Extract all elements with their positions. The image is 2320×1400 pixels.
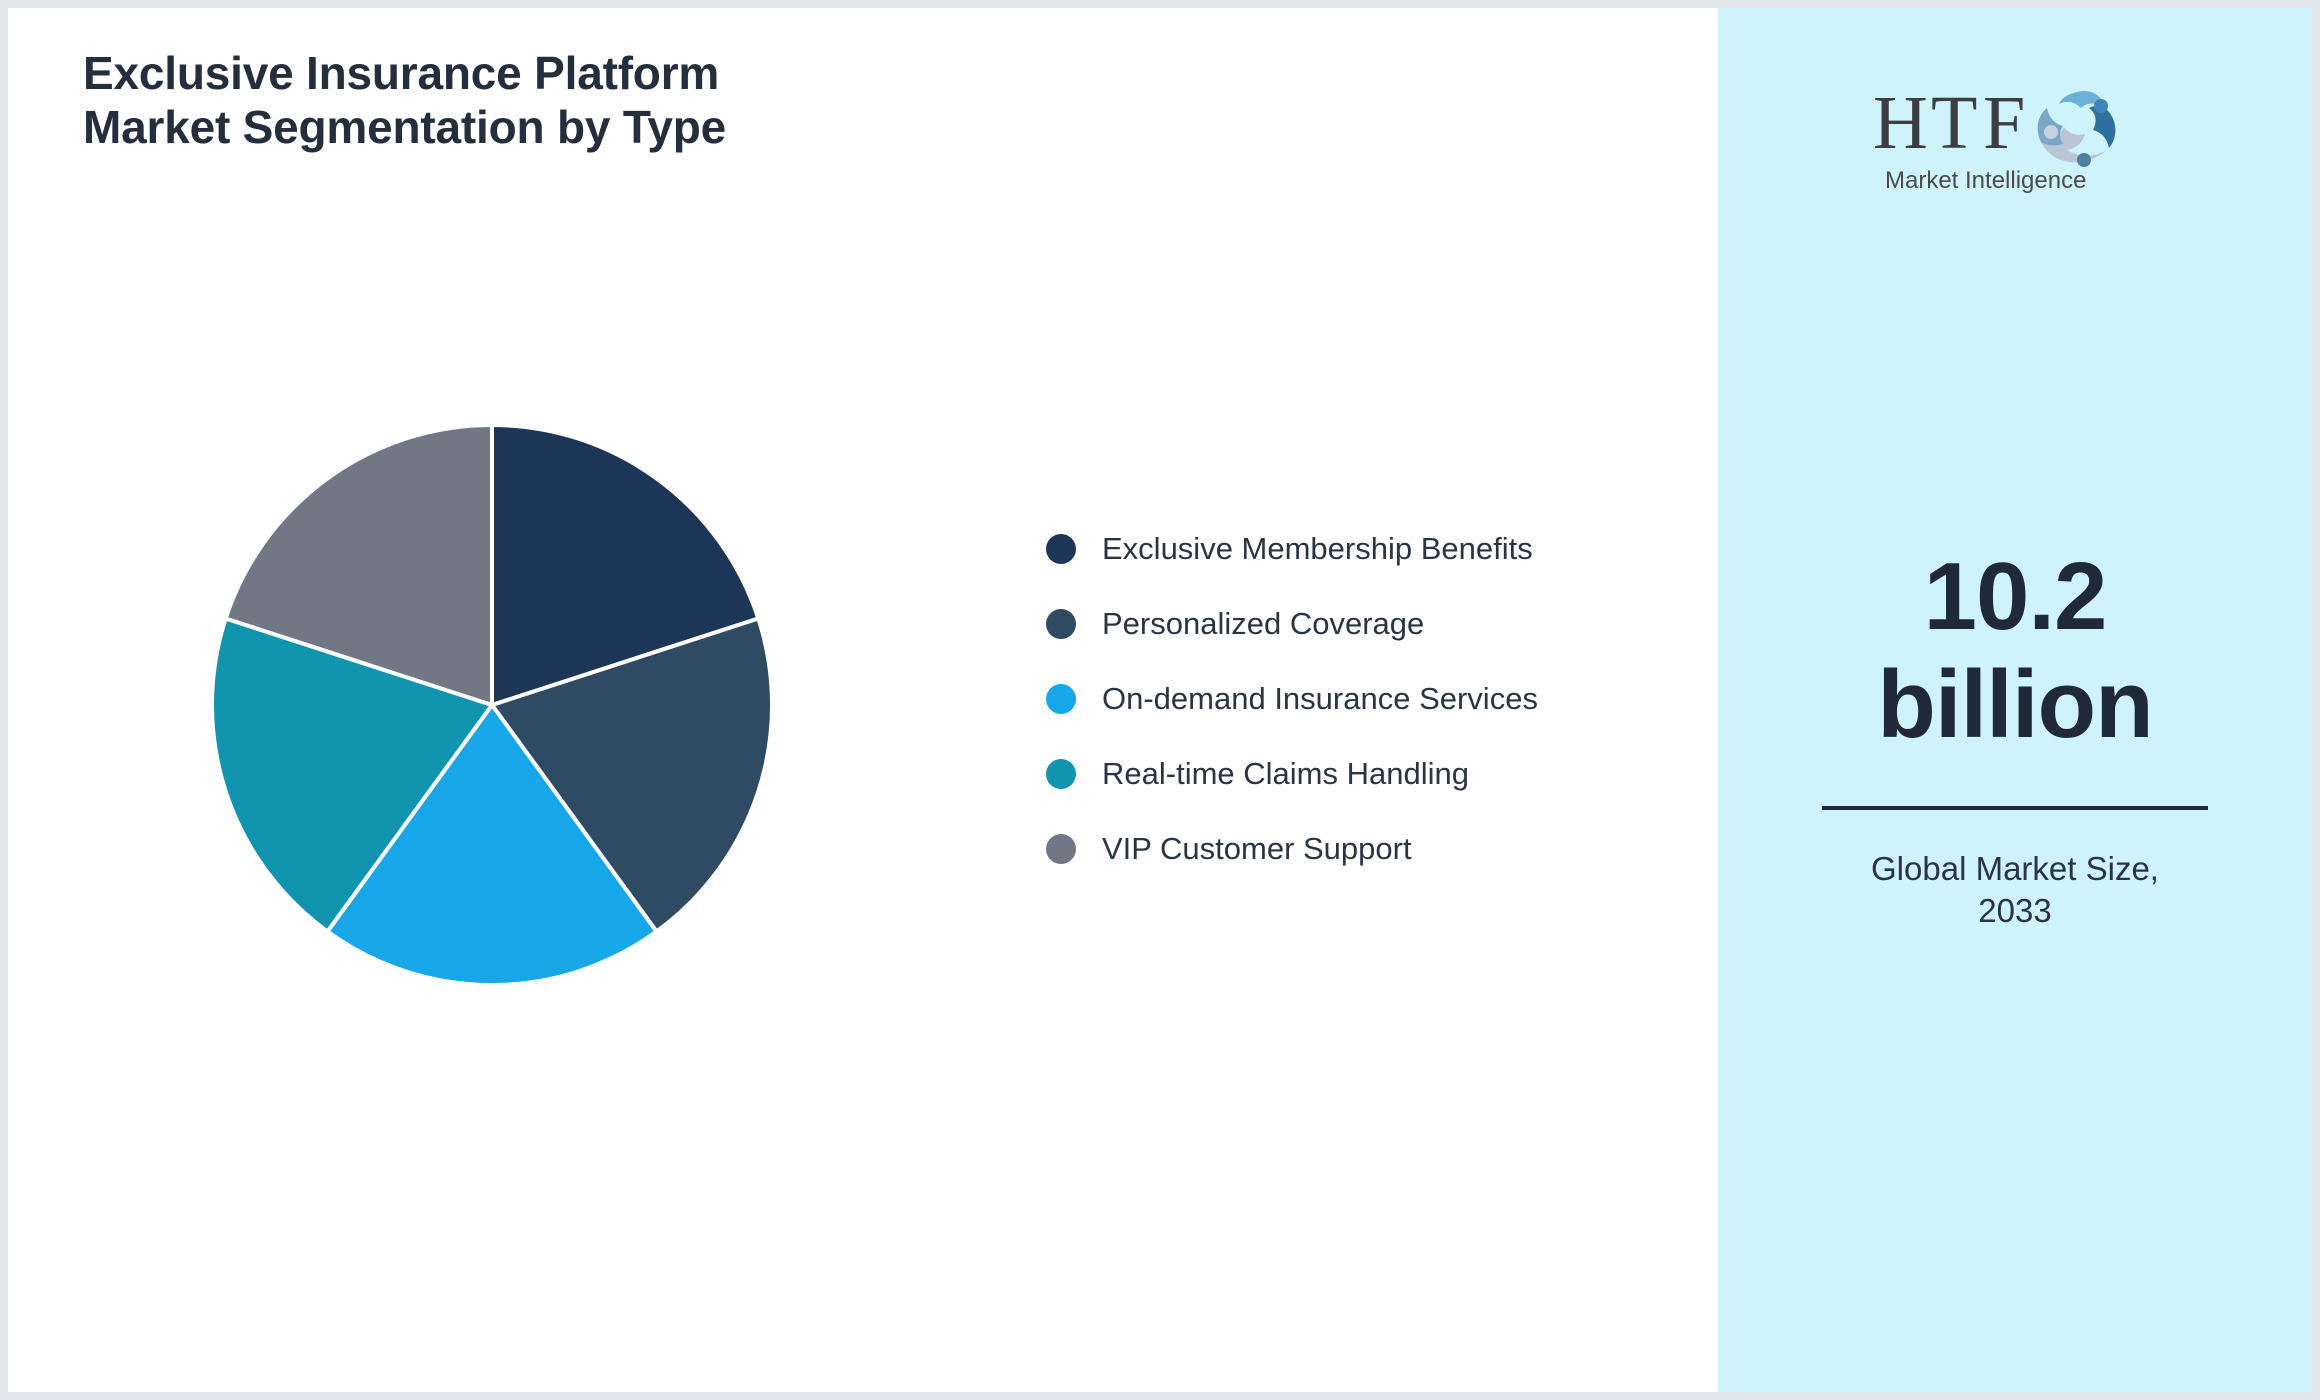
svg-text:F: F	[1983, 81, 2025, 165]
legend-item-label: Real-time Claims Handling	[1102, 756, 1469, 792]
page-title: Exclusive Insurance Platform Market Segm…	[83, 46, 1183, 155]
chart-legend: Exclusive Membership BenefitsPersonalize…	[1046, 523, 1666, 874]
pie-chart	[208, 421, 776, 989]
legend-swatch-icon	[1046, 534, 1076, 564]
legend-item-label: On-demand Insurance Services	[1102, 681, 1538, 717]
legend-item[interactable]: Personalized Coverage	[1046, 598, 1666, 649]
title-line-1: Exclusive Insurance Platform	[83, 46, 1183, 100]
legend-swatch-icon	[1046, 609, 1076, 639]
stat-value-line-2: billion	[1815, 651, 2215, 759]
stat-block: 10.2 billion Global Market Size, 2033	[1815, 543, 2215, 933]
stat-caption-line-2: 2033	[1978, 892, 2051, 929]
legend-item[interactable]: Real-time Claims Handling	[1046, 748, 1666, 799]
svg-text:T: T	[1931, 81, 1977, 165]
legend-item-label: Exclusive Membership Benefits	[1102, 531, 1533, 567]
pie-chart-svg	[208, 421, 776, 989]
legend-item[interactable]: Exclusive Membership Benefits	[1046, 523, 1666, 574]
stat-panel: H T F Market Intelligence	[1718, 8, 2312, 1392]
logo-icon: H T F Market Intelligence	[1865, 80, 2165, 200]
stat-value-line-1: 10.2	[1815, 543, 2215, 651]
svg-text:Market Intelligence: Market Intelligence	[1885, 167, 2086, 194]
infographic-card: Exclusive Insurance Platform Market Segm…	[8, 8, 2312, 1392]
legend-swatch-icon	[1046, 759, 1076, 789]
svg-text:H: H	[1873, 81, 1926, 165]
stat-divider	[1822, 806, 2208, 810]
legend-item[interactable]: On-demand Insurance Services	[1046, 673, 1666, 724]
title-line-2: Market Segmentation by Type	[83, 100, 1183, 154]
stat-caption-line-1: Global Market Size,	[1871, 850, 2159, 887]
legend-item-label: VIP Customer Support	[1102, 831, 1412, 867]
htf-market-intelligence-logo: H T F Market Intelligence	[1865, 80, 2165, 200]
chart-panel: Exclusive Insurance Platform Market Segm…	[8, 8, 1718, 1392]
stat-caption: Global Market Size, 2033	[1815, 848, 2215, 932]
legend-swatch-icon	[1046, 684, 1076, 714]
legend-swatch-icon	[1046, 834, 1076, 864]
legend-item-label: Personalized Coverage	[1102, 606, 1424, 642]
legend-item[interactable]: VIP Customer Support	[1046, 823, 1666, 874]
